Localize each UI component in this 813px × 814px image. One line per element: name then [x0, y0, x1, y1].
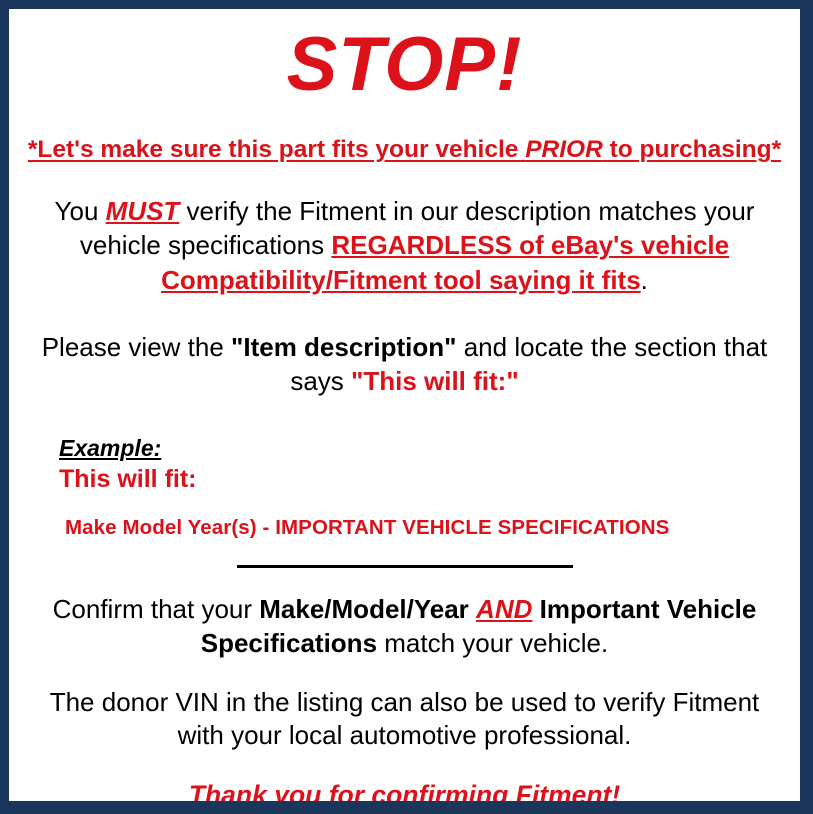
emphasis-must: MUST [106, 196, 180, 226]
notice-card: STOP! *Let's make sure this part fits yo… [9, 9, 800, 801]
divider-wrapper [23, 565, 786, 568]
view-text-seg1: Please view the [42, 332, 231, 362]
emphasis-and: AND [476, 594, 532, 624]
banner-text-part2: to purchasing* [603, 136, 781, 163]
example-this-will-fit-heading: This will fit: [59, 464, 786, 495]
verify-text-seg3: . [641, 265, 648, 295]
confirm-match-paragraph: Confirm that your Make/Model/Year AND Im… [23, 593, 786, 661]
fitment-banner-line: *Let's make sure this part fits your veh… [23, 136, 786, 164]
view-item-description-paragraph: Please view the "Item description" and l… [23, 330, 786, 399]
notice-border-frame: STOP! *Let's make sure this part fits yo… [0, 0, 813, 814]
example-specification-line: Make Model Year(s) - IMPORTANT VEHICLE S… [65, 516, 786, 541]
horizontal-divider-rule [237, 565, 573, 568]
banner-emphasis-prior: PRIOR [525, 136, 603, 163]
example-block: Example: This will fit: Make Model Year(… [23, 435, 786, 541]
emphasis-make-model-year: Make/Model/Year [259, 594, 469, 624]
banner-text-part1: *Let's make sure this part fits your veh… [28, 136, 525, 163]
donor-vin-paragraph: The donor VIN in the listing can also be… [23, 686, 786, 754]
emphasis-item-description: "Item description" [231, 332, 456, 362]
stop-heading: STOP! [23, 27, 786, 103]
verify-fitment-paragraph: You MUST verify the Fitment in our descr… [23, 194, 786, 297]
thank-you-line: Thank you for confirming Fitment! [23, 780, 786, 801]
verify-text-seg1: You [55, 196, 106, 226]
emphasis-this-will-fit: "This will fit:" [351, 366, 519, 396]
confirm-text-seg1: Confirm that your [53, 594, 260, 624]
confirm-text-seg2: match your vehicle. [377, 628, 608, 658]
example-label: Example: [59, 435, 786, 462]
